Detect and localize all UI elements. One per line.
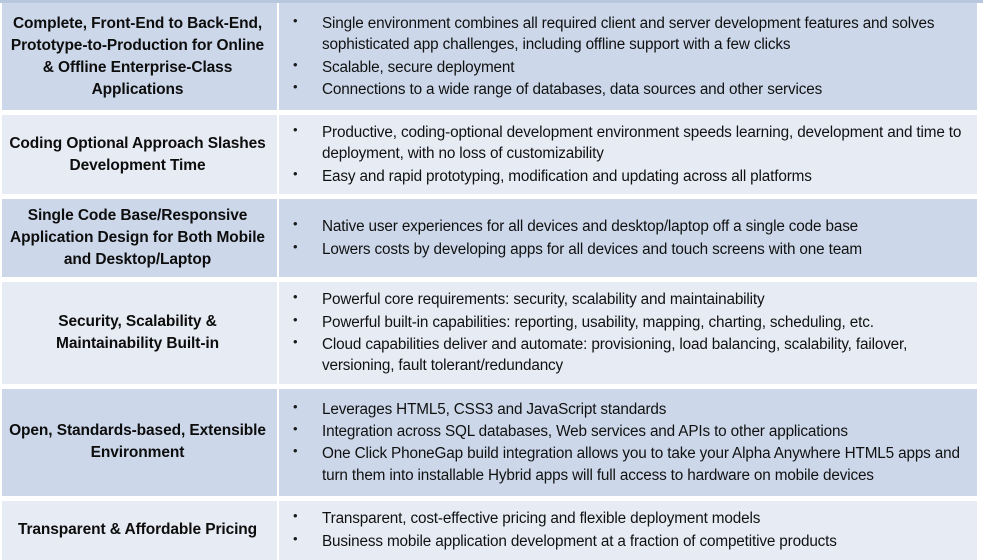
feature-comparison-table: Complete, Front-End to Back-End, Prototy… xyxy=(0,0,983,542)
feature-details-cell: Leverages HTML5, CSS3 and JavaScript sta… xyxy=(279,389,977,496)
feature-bullet-item: One Click PhoneGap build integration all… xyxy=(287,443,971,486)
feature-title-cell: Coding Optional Approach Slashes Develop… xyxy=(2,115,279,194)
table-row: Coding Optional Approach Slashes Develop… xyxy=(2,115,977,194)
feature-bullet-item: Scalable, secure deployment xyxy=(287,57,971,78)
feature-details-cell: Transparent, cost-effective pricing and … xyxy=(279,501,977,560)
feature-bullet-item: Powerful core requirements: security, sc… xyxy=(287,289,971,310)
table-body: Complete, Front-End to Back-End, Prototy… xyxy=(0,3,983,560)
feature-bullet-item: Cloud capabilities deliver and automate:… xyxy=(287,334,971,377)
feature-bullet-list: Transparent, cost-effective pricing and … xyxy=(287,508,971,552)
table-row: Open, Standards-based, Extensible Enviro… xyxy=(2,389,977,496)
feature-bullet-item: Leverages HTML5, CSS3 and JavaScript sta… xyxy=(287,399,971,420)
feature-details-cell: Native user experiences for all devices … xyxy=(279,199,977,277)
feature-bullet-item: Transparent, cost-effective pricing and … xyxy=(287,508,971,529)
feature-bullet-list: Leverages HTML5, CSS3 and JavaScript sta… xyxy=(287,399,971,487)
feature-details-cell: Single environment combines all required… xyxy=(279,3,977,110)
feature-title-cell: Transparent & Affordable Pricing xyxy=(2,501,279,560)
table-row: Transparent & Affordable PricingTranspar… xyxy=(2,501,977,560)
feature-bullet-item: Easy and rapid prototyping, modification… xyxy=(287,166,971,187)
feature-details-cell: Powerful core requirements: security, sc… xyxy=(279,282,977,384)
feature-title-cell: Complete, Front-End to Back-End, Prototy… xyxy=(2,3,279,110)
feature-title-cell: Single Code Base/Responsive Application … xyxy=(2,199,279,277)
feature-bullet-list: Native user experiences for all devices … xyxy=(287,216,971,260)
table-row: Single Code Base/Responsive Application … xyxy=(2,199,977,277)
feature-bullet-item: Native user experiences for all devices … xyxy=(287,216,971,237)
feature-details-cell: Productive, coding-optional development … xyxy=(279,115,977,194)
feature-bullet-list: Productive, coding-optional development … xyxy=(287,122,971,187)
feature-bullet-item: Connections to a wide range of databases… xyxy=(287,79,971,100)
feature-bullet-item: Single environment combines all required… xyxy=(287,13,971,56)
feature-bullet-list: Single environment combines all required… xyxy=(287,13,971,101)
feature-bullet-item: Lowers costs by developing apps for all … xyxy=(287,239,971,260)
table-row: Complete, Front-End to Back-End, Prototy… xyxy=(2,3,977,110)
feature-bullet-item: Productive, coding-optional development … xyxy=(287,122,971,165)
feature-title-cell: Security, Scalability & Maintainability … xyxy=(2,282,279,384)
table-row: Security, Scalability & Maintainability … xyxy=(2,282,977,384)
feature-bullet-item: Integration across SQL databases, Web se… xyxy=(287,421,971,442)
feature-bullet-item: Powerful built-in capabilities: reportin… xyxy=(287,312,971,333)
feature-title-cell: Open, Standards-based, Extensible Enviro… xyxy=(2,389,279,496)
feature-bullet-list: Powerful core requirements: security, sc… xyxy=(287,289,971,377)
